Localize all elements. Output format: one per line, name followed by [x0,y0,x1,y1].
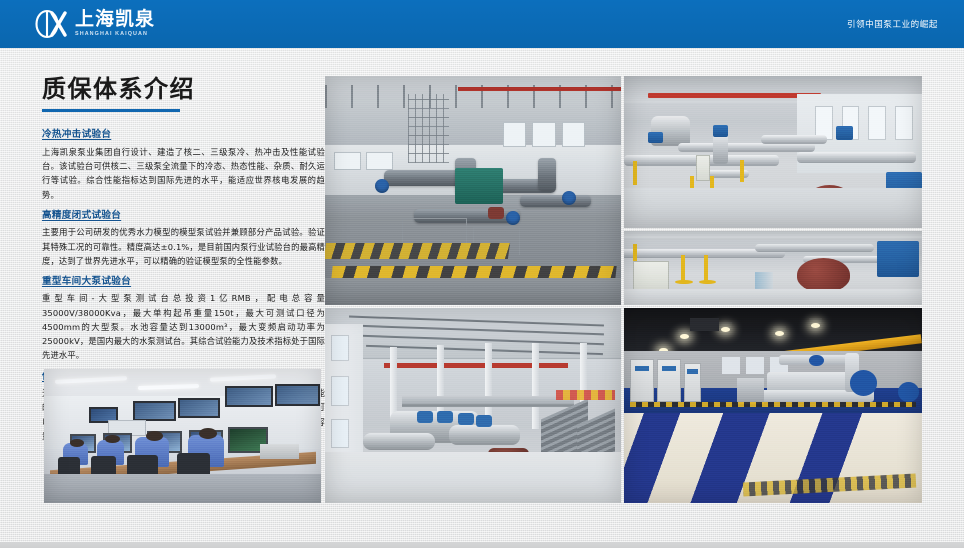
section-heading: 重型车间大泵试验台 [42,275,325,289]
photo-heavy-workshop [325,308,621,503]
photo-closed-test-bay-low-image [624,231,922,305]
section-body: 重型车间-大型泵测试台总投资1亿RMB，配电总容量35000V/38000Kva… [42,291,325,362]
page-header: 上海凯泉 SHANGHAI KAIQUAN 引领中国泵工业的崛起 [0,0,964,48]
photo-control-room [44,369,321,503]
section-body: 上海凯泉泵业集团自行设计、建造了核二、三级泵冷、热冲击及性能试验台。该试验台可供… [42,145,325,202]
photo-closed-test-bay-image [624,76,922,228]
photo-pump-test-hall [325,76,621,305]
photo-heavy-workshop-image [325,308,621,503]
photo-closed-test-bay-low [624,231,922,305]
photo-water-supply-lab-image [624,308,922,503]
photo-pump-test-hall-image [325,76,621,305]
photo-water-supply-lab [624,308,922,503]
header-slogan: 引领中国泵工业的崛起 [847,18,938,30]
photo-control-room-image [44,369,321,503]
brand-logo[interactable]: 上海凯泉 SHANGHAI KAIQUAN [34,9,155,39]
section-heading: 高精度闭式试验台 [42,209,325,223]
photo-closed-test-bay [624,76,922,228]
section-heavy-workshop: 重型车间大泵试验台 重型车间-大型泵测试台总投资1亿RMB，配电总容量35000… [42,275,325,363]
brand-name-en: SHANGHAI KAIQUAN [75,32,155,37]
photo-grid [325,76,922,503]
title-underline [42,109,180,112]
section-body: 主要用于公司研发的优秀水力模型的模型泵试验并兼顾部分产品试验。验证其特殊工况的可… [42,225,325,268]
slide-page: 上海凯泉 SHANGHAI KAIQUAN 引领中国泵工业的崛起 质保体系介绍 … [0,0,964,548]
section-heading: 冷热冲击试验台 [42,128,325,142]
section-high-precision-closed: 高精度闭式试验台 主要用于公司研发的优秀水力模型的模型泵试验并兼顾部分产品试验。… [42,209,325,268]
section-cold-hot-shock: 冷热冲击试验台 上海凯泉泵业集团自行设计、建造了核二、三级泵冷、热冲击及性能试验… [42,128,325,201]
kaiquan-logo-mark-icon [34,9,68,39]
page-title: 质保体系介绍 [42,76,325,102]
brand-name-cn: 上海凯泉 [75,10,155,29]
